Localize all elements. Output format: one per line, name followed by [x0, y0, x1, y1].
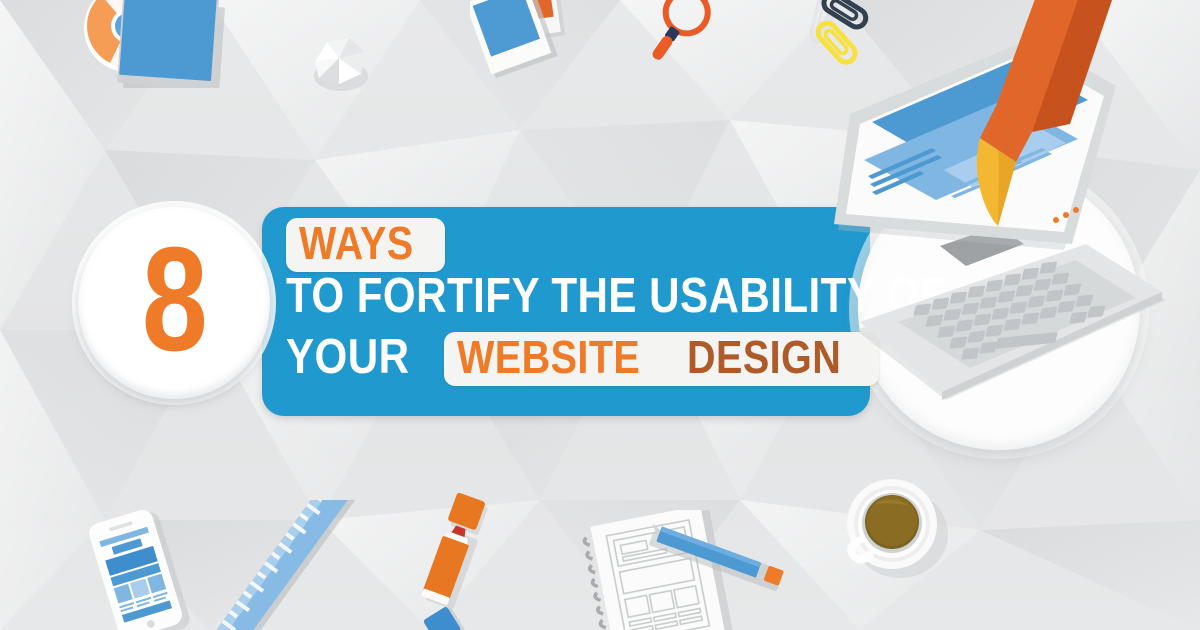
photo-prints-icon	[470, 0, 600, 82]
spiral-notepad-icon	[578, 510, 808, 630]
laptop-with-paintbrush-icon	[820, 0, 1200, 480]
cd-disc-icon	[70, 0, 250, 88]
smartphone-wireframe-icon	[85, 505, 195, 630]
magnifying-glass-icon	[640, 0, 735, 72]
highlighter-marker-icon	[415, 485, 555, 630]
crumpled-paper-icon	[305, 32, 375, 94]
coffee-cup-icon	[838, 468, 958, 588]
title-pill-ways: WAYS	[286, 218, 445, 272]
title-line-3-prefix: YOUR	[286, 333, 409, 381]
badge-number: 8	[97, 207, 251, 399]
feature-graphic: WAYS TO FORTIFY THE USABILITY OF YOUR WE…	[0, 0, 1200, 630]
number-badge: 8	[78, 207, 270, 399]
title-highlight-website: WEBSITE	[457, 335, 640, 380]
ruler-icon	[212, 500, 382, 630]
title-highlight-design: DESIGN	[687, 335, 841, 380]
title-line-1: WAYS	[299, 221, 414, 266]
title-pill-website-design: WEBSITE DESIGN	[444, 332, 879, 386]
page-title: WAYS TO FORTIFY THE USABILITY OF YOUR WE…	[286, 218, 886, 408]
